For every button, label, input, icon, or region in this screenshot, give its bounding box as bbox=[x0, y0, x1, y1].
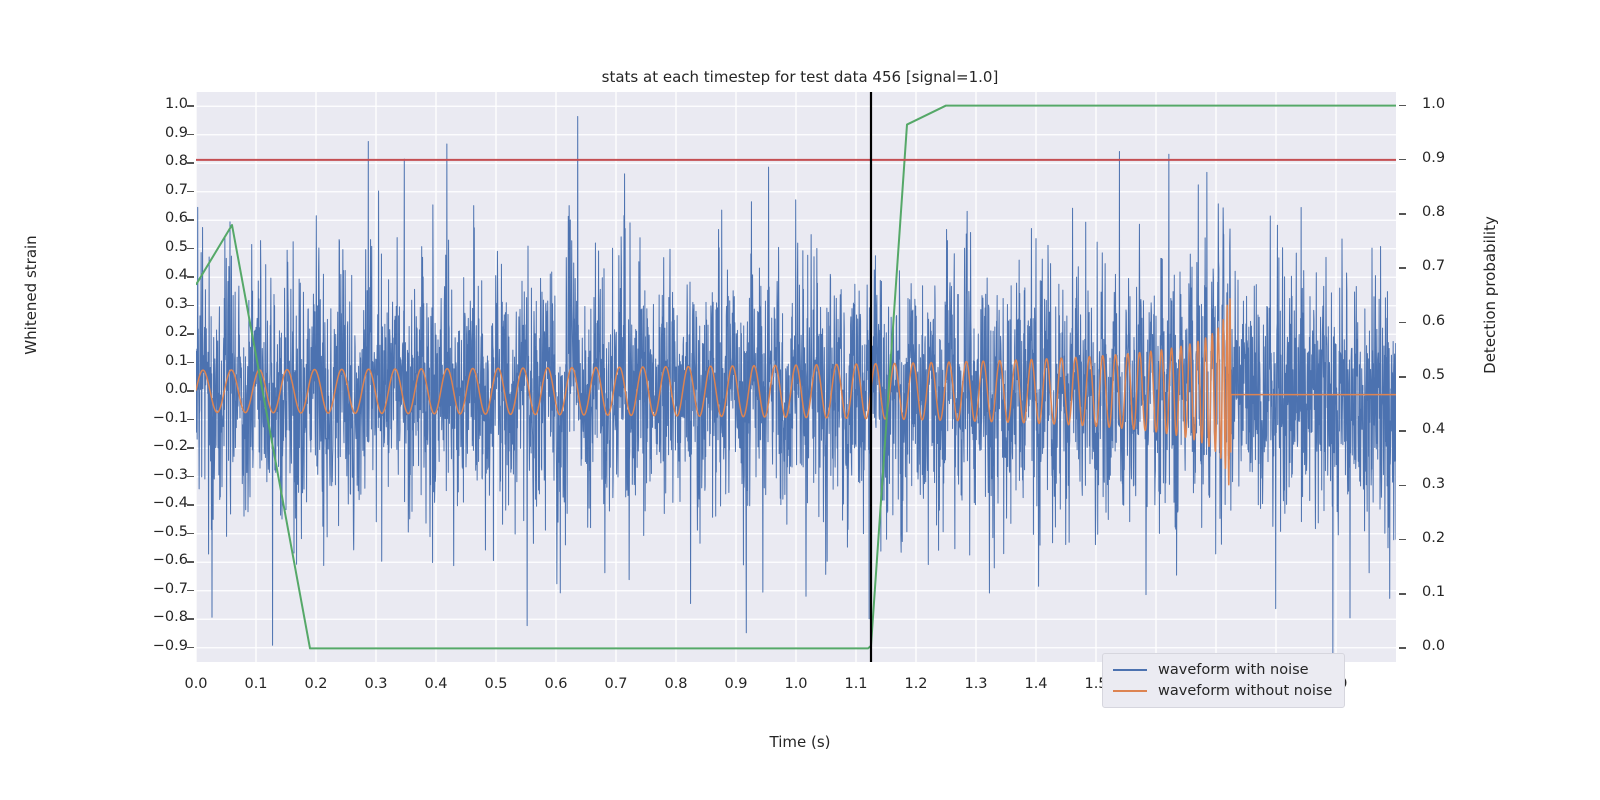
y-tick-label-left: 0.3 bbox=[165, 296, 188, 312]
plot-axes bbox=[196, 92, 1396, 662]
y-tick-mark-left bbox=[187, 419, 194, 421]
y-tick-mark-left bbox=[187, 590, 194, 592]
y-tick-label-left: −0.7 bbox=[153, 581, 188, 597]
y-tick-mark-left bbox=[187, 647, 194, 649]
y-tick-label-left: 0.1 bbox=[165, 353, 188, 369]
legend-item-label: waveform without noise bbox=[1158, 683, 1332, 699]
y-tick-label-left: −0.5 bbox=[153, 524, 188, 540]
x-tick-label: 0.2 bbox=[286, 676, 346, 692]
y-tick-mark-right bbox=[1399, 213, 1406, 215]
y-tick-mark-right bbox=[1399, 485, 1406, 487]
y-tick-label-right: 0.0 bbox=[1422, 638, 1445, 654]
y-tick-mark-left bbox=[187, 504, 194, 506]
y-tick-label-right: 0.5 bbox=[1422, 367, 1445, 383]
y-tick-mark-right bbox=[1399, 159, 1406, 161]
y-tick-label-left: −0.9 bbox=[153, 638, 188, 654]
legend-swatch-line bbox=[1113, 669, 1147, 671]
y-axis-label-left: Whitened strain bbox=[22, 195, 40, 395]
y-tick-mark-left bbox=[187, 219, 194, 221]
y-tick-mark-right bbox=[1399, 376, 1406, 378]
x-tick-label: 0.0 bbox=[166, 676, 226, 692]
plot-area bbox=[196, 92, 1396, 662]
legend-swatch-line bbox=[1113, 690, 1147, 692]
y-tick-mark-left bbox=[187, 191, 194, 193]
y-tick-mark-left bbox=[187, 305, 194, 307]
y-tick-label-left: 0.9 bbox=[165, 125, 188, 141]
y-tick-mark-left bbox=[187, 162, 194, 164]
y-tick-mark-left bbox=[187, 134, 194, 136]
legend-item-waveform-with-noise: waveform with noise bbox=[1113, 659, 1332, 680]
y-tick-mark-right bbox=[1399, 593, 1406, 595]
y-tick-mark-left bbox=[187, 105, 194, 107]
y-tick-mark-left bbox=[187, 618, 194, 620]
x-tick-label: 1.3 bbox=[946, 676, 1006, 692]
y-tick-mark-left bbox=[187, 561, 194, 563]
y-tick-label-left: −0.1 bbox=[153, 410, 188, 426]
y-tick-mark-left bbox=[187, 390, 194, 392]
y-tick-label-right: 0.8 bbox=[1422, 204, 1445, 220]
y-tick-mark-left bbox=[187, 276, 194, 278]
y-tick-label-left: −0.6 bbox=[153, 552, 188, 568]
y-tick-label-left: 1.0 bbox=[165, 96, 188, 112]
y-tick-label-right: 0.9 bbox=[1422, 150, 1445, 166]
y-tick-mark-right bbox=[1399, 647, 1406, 649]
y-tick-label-right: 0.6 bbox=[1422, 313, 1445, 329]
y-tick-label-left: 0.2 bbox=[165, 324, 188, 340]
x-tick-label: 0.1 bbox=[226, 676, 286, 692]
y-tick-label-right: 1.0 bbox=[1422, 96, 1445, 112]
y-tick-label-left: −0.3 bbox=[153, 467, 188, 483]
y-tick-mark-left bbox=[187, 333, 194, 335]
y-tick-label-right: 0.2 bbox=[1422, 530, 1445, 546]
chart-title: stats at each timestep for test data 456… bbox=[0, 68, 1600, 86]
y-tick-mark-right bbox=[1399, 539, 1406, 541]
y-axis-label-right: Detection probability bbox=[1481, 175, 1499, 415]
y-tick-mark-right bbox=[1399, 430, 1406, 432]
x-tick-label: 1.1 bbox=[826, 676, 886, 692]
y-tick-label-left: 0.4 bbox=[165, 267, 188, 283]
y-tick-label-left: 0.6 bbox=[165, 210, 188, 226]
x-tick-label: 1.4 bbox=[1006, 676, 1066, 692]
y-tick-label-left: −0.2 bbox=[153, 438, 188, 454]
y-tick-label-left: 0.8 bbox=[165, 153, 188, 169]
y-tick-label-left: 0.0 bbox=[165, 381, 188, 397]
y-tick-mark-right bbox=[1399, 267, 1406, 269]
y-tick-mark-right bbox=[1399, 105, 1406, 107]
y-tick-mark-right bbox=[1399, 322, 1406, 324]
legend-item-waveform-without-noise: waveform without noise bbox=[1113, 680, 1332, 701]
x-tick-label: 0.9 bbox=[706, 676, 766, 692]
x-axis-label: Time (s) bbox=[0, 733, 1600, 751]
y-tick-label-left: −0.8 bbox=[153, 609, 188, 625]
x-tick-label: 0.8 bbox=[646, 676, 706, 692]
x-tick-label: 0.7 bbox=[586, 676, 646, 692]
y-tick-label-left: 0.5 bbox=[165, 239, 188, 255]
y-tick-label-right: 0.1 bbox=[1422, 584, 1445, 600]
x-tick-label: 1.2 bbox=[886, 676, 946, 692]
y-tick-label-left: −0.4 bbox=[153, 495, 188, 511]
x-tick-label: 0.3 bbox=[346, 676, 406, 692]
x-tick-label: 0.4 bbox=[406, 676, 466, 692]
y-tick-label-right: 0.3 bbox=[1422, 476, 1445, 492]
y-tick-mark-left bbox=[187, 476, 194, 478]
legend-item-label: waveform with noise bbox=[1158, 662, 1309, 678]
y-tick-mark-left bbox=[187, 362, 194, 364]
legend: waveform with noise waveform without noi… bbox=[1102, 653, 1345, 708]
figure-canvas: stats at each timestep for test data 456… bbox=[0, 0, 1600, 800]
y-tick-label-right: 0.4 bbox=[1422, 421, 1445, 437]
y-tick-mark-left bbox=[187, 447, 194, 449]
y-tick-label-left: 0.7 bbox=[165, 182, 188, 198]
y-tick-mark-left bbox=[187, 533, 194, 535]
y-tick-label-right: 0.7 bbox=[1422, 258, 1445, 274]
x-tick-label: 0.5 bbox=[466, 676, 526, 692]
y-tick-mark-left bbox=[187, 248, 194, 250]
x-tick-label: 0.6 bbox=[526, 676, 586, 692]
x-tick-label: 1.0 bbox=[766, 676, 826, 692]
